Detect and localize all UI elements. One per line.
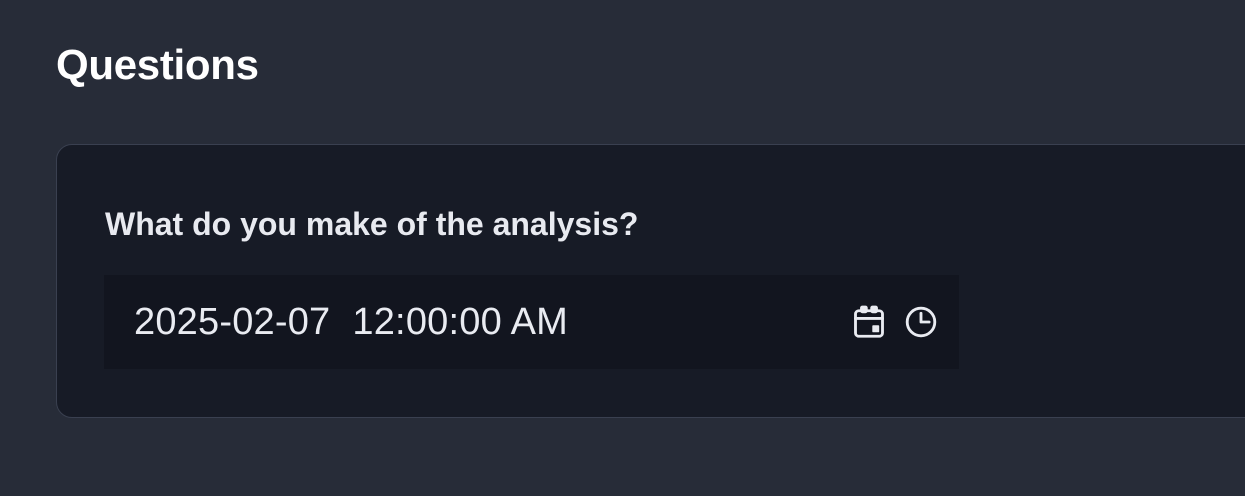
page-title: Questions	[56, 40, 259, 90]
date-input[interactable]: 2025-02-07	[134, 300, 330, 344]
question-card: What do you make of the analysis? 2025-0…	[56, 144, 1245, 418]
datetime-icon-group	[849, 302, 941, 342]
datetime-value-group: 2025-02-07 12:00:00 AM	[134, 300, 849, 344]
time-input[interactable]: 12:00:00 AM	[352, 300, 568, 344]
calendar-icon[interactable]	[849, 302, 889, 342]
datetime-input[interactable]: 2025-02-07 12:00:00 AM	[104, 275, 959, 369]
question-label: What do you make of the analysis?	[105, 205, 638, 243]
clock-icon[interactable]	[901, 302, 941, 342]
questions-page: Questions What do you make of the analys…	[0, 0, 1245, 496]
